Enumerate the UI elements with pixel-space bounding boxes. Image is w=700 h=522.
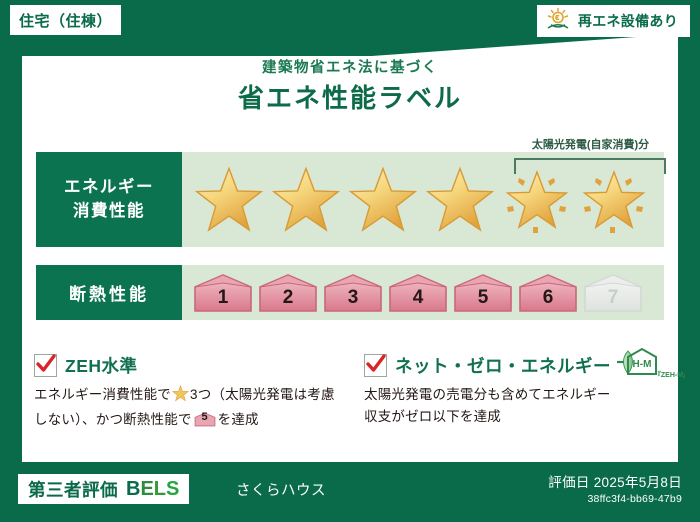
star-5-solar — [498, 163, 575, 237]
energy-performance-row: エネルギー 消費性能 太陽光発電(自家消費)分 — [36, 152, 664, 247]
net-zero-energy-description: 太陽光発電の売電分も含めてエネルギー 収支がゼロ以下を達成 — [364, 384, 684, 428]
solar-bracket-caption: 太陽光発電(自家消費)分 — [478, 136, 700, 152]
insulation-level-number: 1 — [218, 288, 229, 314]
evaluation-id: 38ffc3f4-bb69-47b9 — [548, 493, 682, 506]
evaluation-date-value: 2025年5月8日 — [594, 475, 682, 490]
star-3 — [344, 163, 421, 237]
gold-star-icon — [172, 385, 189, 409]
bels-logo: BELS — [126, 479, 179, 499]
star-2 — [267, 163, 344, 237]
energy-label-line2: 消費性能 — [73, 200, 145, 224]
bels-letter-e: E — [140, 479, 153, 499]
insulation-performance-row: 断熱性能 — [36, 265, 664, 320]
insulation-level-number: 5 — [478, 288, 489, 314]
energy-stars-area: 太陽光発電(自家消費)分 — [182, 152, 664, 247]
zeh-desc-part4: を達成 — [218, 412, 259, 427]
renewable-equipment-badge: 再エネ設備あり — [537, 5, 690, 37]
evaluation-date: 評価日 2025年5月8日 — [548, 474, 682, 492]
net-zero-desc-line2: 収支がゼロ以下を達成 — [364, 406, 684, 428]
energy-performance-label: エネルギー 消費性能 — [36, 152, 182, 247]
insulation-level-2: 2 — [257, 272, 319, 314]
net-zero-energy-title: ネット・ゼロ・エネルギー — [395, 353, 611, 378]
net-zero-energy-header: ネット・ゼロ・エネルギー H-M 『ZEH-M』 — [364, 352, 684, 378]
energy-label-root: 住宅（住棟） 再エネ設備あり 建築物省エネ法に基づく 省エネ性能ラベル — [0, 0, 700, 522]
insulation-level-number: 2 — [283, 288, 294, 314]
zeh-standard-section: ZEH水準 エネルギー消費性能で3つ（太陽光発電は考慮しない）、かつ断熱性能で5… — [34, 352, 344, 431]
check-icon — [34, 352, 58, 376]
insulation-level-1: 1 — [192, 272, 254, 314]
insulation-badge-value: 5 — [194, 411, 216, 428]
company-name: さくらハウス — [236, 479, 326, 500]
evaluation-date-label: 評価日 — [548, 475, 589, 490]
title-block: 建築物省エネ法に基づく 省エネ性能ラベル — [0, 60, 700, 115]
insulation-level-number: 4 — [413, 288, 424, 314]
svg-text:H-M: H-M — [633, 359, 652, 370]
bels-letter-s: S — [166, 479, 179, 499]
zeh-standard-checkbox[interactable] — [34, 354, 57, 377]
insulation-level-4: 4 — [387, 272, 449, 314]
insulation-level-number: 3 — [348, 288, 359, 314]
title-subtitle: 建築物省エネ法に基づく — [0, 60, 700, 77]
insulation-level-6: 6 — [517, 272, 579, 314]
star-rating — [182, 163, 652, 237]
insulation-level-number: 6 — [543, 288, 554, 314]
insulation-level-5: 5 — [452, 272, 514, 314]
third-party-evaluation-label: 第三者評価 — [28, 477, 118, 502]
zeh-standard-header: ZEH水準 — [34, 352, 344, 378]
insulation-level-7: 7 — [582, 272, 644, 314]
zeh-m-logo: H-M 『ZEH-M』 — [615, 347, 685, 386]
evaluation-info: 評価日 2025年5月8日 38ffc3f4-bb69-47b9 — [548, 474, 682, 506]
solar-sun-icon — [545, 7, 571, 36]
insulation-badge-inline: 5 — [194, 411, 216, 428]
insulation-level-3: 3 — [322, 272, 384, 314]
zeh-standard-title: ZEH水準 — [65, 353, 138, 378]
insulation-level-scale: 1 2 3 — [182, 272, 644, 314]
zeh-desc-part1: エネルギー消費性能で — [34, 387, 171, 402]
insulation-performance-label: 断熱性能 — [36, 265, 182, 320]
energy-label-line1: エネルギー — [64, 176, 154, 200]
net-zero-energy-checkbox[interactable] — [364, 354, 387, 377]
insulation-levels-area: 1 2 3 — [182, 265, 664, 320]
building-type-tag: 住宅（住棟） — [10, 5, 121, 35]
svg-text:『ZEH-M』: 『ZEH-M』 — [654, 370, 685, 379]
net-zero-desc-line1: 太陽光発電の売電分も含めてエネルギー — [364, 384, 684, 406]
insulation-label-text: 断熱性能 — [69, 280, 149, 305]
third-party-evaluation-badge: 第三者評価 BELS — [18, 474, 189, 504]
zeh-standard-description: エネルギー消費性能で3つ（太陽光発電は考慮しない）、かつ断熱性能で5を達成 — [34, 384, 344, 431]
net-zero-energy-section: ネット・ゼロ・エネルギー H-M 『ZEH-M』 — [364, 352, 684, 428]
renewable-equipment-label: 再エネ設備あり — [578, 11, 678, 31]
building-type-label: 住宅（住棟） — [19, 10, 112, 31]
bels-letter-b: B — [126, 479, 140, 499]
page-title: 省エネ性能ラベル — [0, 83, 700, 114]
star-1 — [190, 163, 267, 237]
check-icon — [364, 352, 388, 376]
zeh-desc-part2: 3つ（太陽光発電 — [190, 387, 294, 402]
insulation-level-number: 7 — [608, 288, 619, 314]
star-4 — [421, 163, 498, 237]
bels-letter-l: L — [154, 479, 166, 499]
star-6-solar — [575, 163, 652, 237]
